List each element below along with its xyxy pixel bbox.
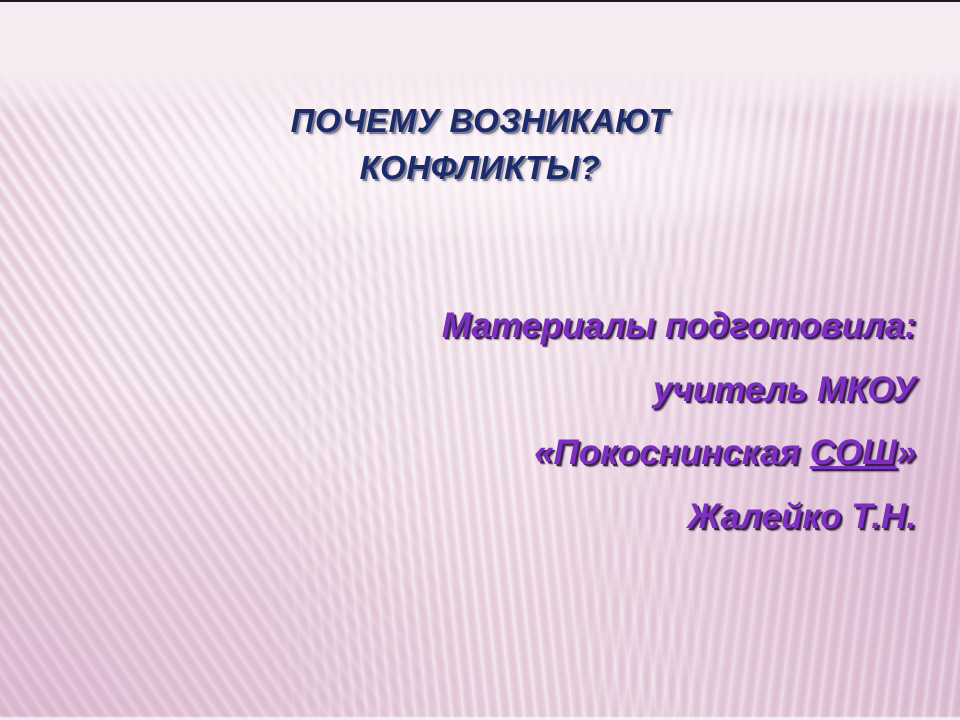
title-line-1: ПОЧЕМУ ВОЗНИКАЮТ (0, 98, 960, 145)
title-line-2: КОНФЛИКТЫ? (0, 145, 960, 192)
school-name-after: » (897, 433, 916, 472)
slide-content: ПОЧЕМУ ВОЗНИКАЮТ КОНФЛИКТЫ? Материалы по… (0, 2, 960, 720)
slide-title: ПОЧЕМУ ВОЗНИКАЮТ КОНФЛИКТЫ? (0, 98, 960, 192)
school-name-before: «Покоснинская (534, 433, 810, 472)
slide-canvas: ПОЧЕМУ ВОЗНИКАЮТ КОНФЛИКТЫ? Материалы по… (0, 0, 960, 720)
school-abbreviation-underlined: СОШ (810, 433, 897, 472)
credits-line-author-name: Жалейко Т.Н. (120, 485, 916, 549)
credits-block: Материалы подготовила: учитель МКОУ «Пок… (120, 294, 916, 549)
credits-line-role: учитель МКОУ (120, 358, 916, 422)
credits-line-prepared-by: Материалы подготовила: (120, 294, 916, 358)
credits-line-school: «Покоснинская СОШ» (120, 421, 916, 485)
